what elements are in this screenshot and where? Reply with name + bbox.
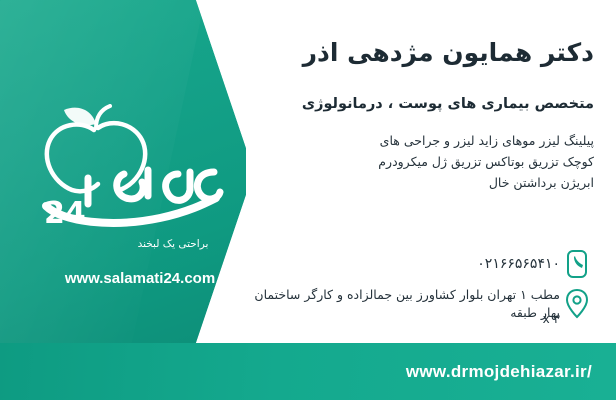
map-pin-icon [560,286,594,322]
services-list: پیلینگ لیزر موهای زاید لیزر و جراحی های … [234,130,594,193]
card-details: دکتر همایون مژدهی اذر متخصص بیماری های پ… [234,0,594,343]
address-text: مطب ١ تهران بلوار کشاورز بین جمالزاده و … [234,286,560,322]
address-row: مطب ١ تهران بلوار کشاورز بین جمالزاده و … [234,286,594,322]
footer-url[interactable]: www.drmojdehiazar.ir/ [406,343,592,400]
services-line: ابریژن برداشتن خال [234,172,594,193]
specialty-text: متخصص بیماری های پوست ، درمانولوژی [234,96,594,112]
phone-row[interactable]: ٠٢١۶۶۵۶۵۴١٠ [234,246,594,282]
phone-icon [560,246,594,282]
address-extra: ٣ x [543,312,560,326]
phone-number: ٠٢١۶۶۵۶۵۴١٠ [469,255,560,273]
brand-number: 24 [44,196,86,231]
brand-panel: 24 براحتی یک لبخند www.salamati24.com [0,0,246,343]
page-title: دکتر همایون مژدهی اذر [234,38,594,67]
services-line: کوچک تزریق بوتاکس تزریق ژل میکرودرم [234,151,594,172]
business-card: 24 براحتی یک لبخند www.salamati24.com دک… [0,0,616,400]
services-line: پیلینگ لیزر موهای زاید لیزر و جراحی های [234,130,594,151]
